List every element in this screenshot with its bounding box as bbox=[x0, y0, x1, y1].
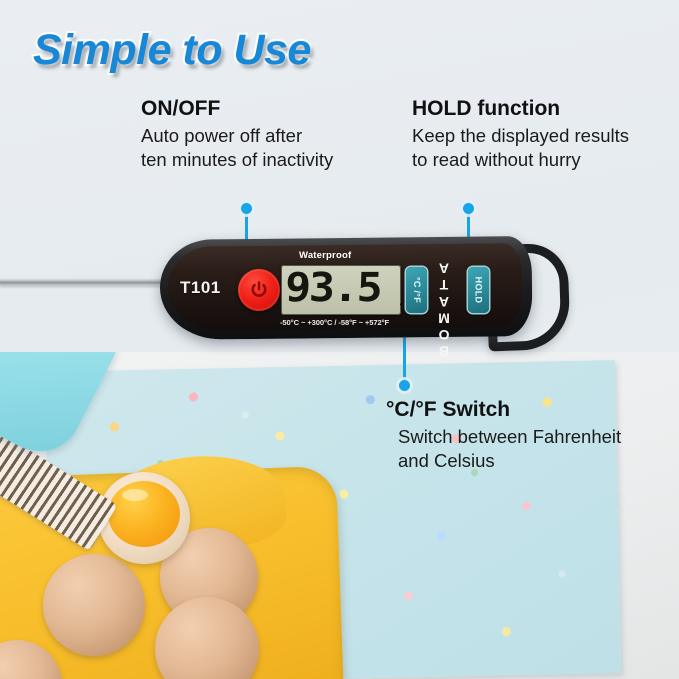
callout-onoff: ON/OFF Auto power off after ten minutes … bbox=[141, 97, 333, 171]
model-label: T101 bbox=[180, 278, 221, 298]
leader-dot-cf bbox=[399, 380, 410, 391]
power-button[interactable] bbox=[238, 269, 280, 311]
brand-label: BOMATA bbox=[436, 260, 452, 360]
celsius-fahrenheit-button[interactable]: °C /°F bbox=[406, 267, 427, 313]
lcd-display: 93.5 °F bbox=[281, 265, 401, 315]
infographic-stage: Simple to Use ON/OFF Auto power off afte… bbox=[0, 0, 679, 679]
leader-dot-hold bbox=[463, 203, 474, 214]
temperature-range-label: -50°C ~ +300°C / -58°F ~ +572°F bbox=[280, 318, 389, 327]
callout-hold-body: Keep the displayed results to read witho… bbox=[412, 124, 629, 171]
callout-hold: HOLD function Keep the displayed results… bbox=[412, 97, 629, 171]
page-title: Simple to Use bbox=[33, 26, 311, 75]
digital-thermometer: T101 Waterproof 93.5 °F -50°C ~ +300°C /… bbox=[0, 228, 560, 348]
leader-dot-onoff bbox=[241, 203, 252, 214]
celsius-fahrenheit-button-label: °C /°F bbox=[412, 277, 422, 303]
callout-onoff-line2: ten minutes of inactivity bbox=[141, 148, 333, 172]
waterproof-label: Waterproof bbox=[299, 250, 351, 261]
callout-hold-heading: HOLD function bbox=[412, 97, 629, 121]
callout-cf-line2: and Celsius bbox=[398, 449, 621, 473]
callout-cf-line1: Switch between Fahrenheit bbox=[398, 425, 621, 449]
egg-yolk bbox=[108, 481, 180, 547]
callout-onoff-line1: Auto power off after bbox=[141, 124, 333, 148]
cracked-egg-shell bbox=[98, 472, 190, 564]
power-icon bbox=[249, 280, 269, 300]
callout-cf-body: Switch between Fahrenheit and Celsius bbox=[386, 425, 621, 472]
hold-button[interactable]: HOLD bbox=[468, 267, 489, 313]
lcd-temperature-value: 93.5 bbox=[284, 266, 381, 311]
callout-hold-line1: Keep the displayed results bbox=[412, 124, 629, 148]
callout-hold-line2: to read without hurry bbox=[412, 148, 629, 172]
callout-onoff-heading: ON/OFF bbox=[141, 97, 333, 121]
thermometer-face: T101 Waterproof 93.5 °F -50°C ~ +300°C /… bbox=[168, 246, 518, 330]
hold-button-label: HOLD bbox=[474, 277, 484, 304]
callout-cf-heading: °C/°F Switch bbox=[386, 398, 621, 422]
egg bbox=[43, 554, 145, 656]
callout-cf-switch: °C/°F Switch Switch between Fahrenheit a… bbox=[386, 398, 621, 472]
lcd-temperature-unit: °F bbox=[397, 299, 401, 309]
callout-onoff-body: Auto power off after ten minutes of inac… bbox=[141, 124, 333, 171]
